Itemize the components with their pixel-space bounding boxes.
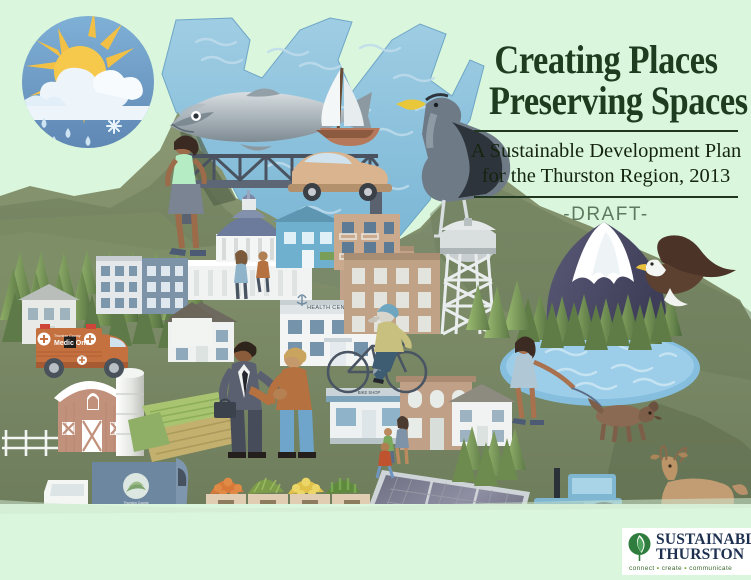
tagline-communicate: communicate — [689, 565, 732, 572]
title-line-1: Creating Places — [489, 40, 723, 79]
title-block: Creating Places Preserving Spaces A Sust… — [470, 40, 742, 226]
logo-word-sustainable: SUSTAINABLE — [656, 532, 751, 547]
tagline-sep-1: • — [657, 565, 660, 572]
title-divider-top — [474, 130, 738, 132]
ambulance-service-label: Medic One — [54, 340, 90, 347]
bike-shop-label: BIKE SHOP — [358, 390, 381, 395]
logo-word-thurston: THURSTON — [656, 547, 751, 562]
brick-civic-building — [344, 253, 440, 334]
logo-wordmark: SUSTAINABLE THURSTON — [656, 532, 751, 562]
tagline-connect: connect — [629, 565, 655, 572]
logo-tagline: connect • create • communicate — [628, 565, 732, 572]
ambulance-agency-label: Thurston County — [54, 334, 81, 338]
title-line-2: Preserving Spaces — [489, 81, 723, 120]
tagline-create: create — [662, 565, 682, 572]
title-divider-bottom — [474, 196, 738, 198]
logo-top-row: SUSTAINABLE THURSTON — [628, 532, 751, 562]
sustainable-thurston-logo: SUSTAINABLE THURSTON connect • create • … — [622, 528, 751, 575]
report-cover: HEALTH CENTER — [0, 0, 751, 580]
leaf-logo-icon — [628, 532, 651, 562]
draft-label: -DRAFT- — [470, 204, 742, 226]
subtitle-line-1: A Sustainable Development Plan — [470, 139, 742, 164]
tagline-sep-2: • — [684, 565, 687, 572]
subtitle-line-2: for the Thurston Region, 2013 — [470, 164, 742, 189]
